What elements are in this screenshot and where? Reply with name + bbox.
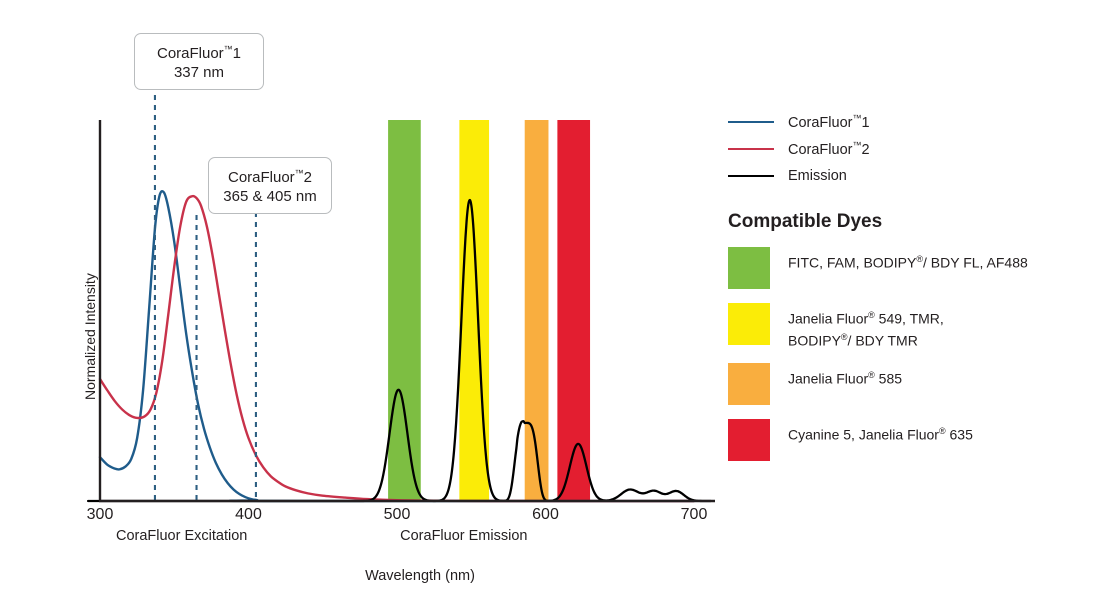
x-axis-title: Wavelength (nm) — [310, 568, 530, 584]
dye-label-2: Janelia Fluor® 585 — [788, 363, 902, 388]
x-tick-label-300: 300 — [70, 506, 130, 524]
legend-panel: CoraFluor™1CoraFluor™2EmissionCompatible… — [728, 108, 1098, 475]
y-axis-title: Normalized Intensity — [82, 273, 98, 400]
dye-band-green — [388, 120, 421, 501]
x-tick-label-700: 700 — [664, 506, 724, 524]
x-tick-label-600: 600 — [516, 506, 576, 524]
corafluor-2-callout: CoraFluor™2365 & 405 nm — [208, 157, 332, 214]
legend-line-label-0: CoraFluor™1 — [788, 113, 870, 131]
legend-line-row-2: Emission — [728, 162, 1098, 189]
dye-label-3: Cyanine 5, Janelia Fluor® 635 — [788, 419, 973, 444]
corafluor-1-callout-line1: CoraFluor™1 — [145, 40, 253, 63]
corafluor-1-callout: CoraFluor™1337 nm — [134, 33, 264, 90]
region-label-excitation: CoraFluor Excitation — [92, 528, 272, 544]
dye-row-1: Janelia Fluor® 549, TMR,BODIPY®/ BDY TMR — [728, 303, 1098, 349]
legend-line-swatch-0 — [728, 121, 774, 123]
legend-line-swatch-1 — [728, 148, 774, 150]
dye-band-red — [557, 120, 590, 501]
legend-line-swatch-2 — [728, 175, 774, 177]
dye-swatch-1 — [728, 303, 770, 345]
compatible-dyes-heading: Compatible Dyes — [728, 211, 1098, 233]
legend-line-label-1: CoraFluor™2 — [788, 140, 870, 158]
corafluor-1-callout-line2: 337 nm — [145, 63, 253, 82]
dye-label-1: Janelia Fluor® 549, TMR,BODIPY®/ BDY TMR — [788, 303, 944, 349]
dye-row-2: Janelia Fluor® 585 — [728, 363, 1098, 405]
region-label-emission: CoraFluor Emission — [374, 528, 554, 544]
corafluor-2-callout-line1: CoraFluor™2 — [219, 164, 321, 187]
x-tick-label-400: 400 — [219, 506, 279, 524]
dye-swatch-3 — [728, 419, 770, 461]
legend-line-row-0: CoraFluor™1 — [728, 108, 1098, 135]
spectra-figure: 300400500600700CoraFluor ExcitationCoraF… — [0, 0, 1110, 612]
corafluor-2-callout-line2: 365 & 405 nm — [219, 187, 321, 206]
dye-swatch-0 — [728, 247, 770, 289]
dye-band-orange — [525, 120, 549, 501]
legend-line-label-2: Emission — [788, 168, 847, 184]
x-tick-label-500: 500 — [367, 506, 427, 524]
dye-row-3: Cyanine 5, Janelia Fluor® 635 — [728, 419, 1098, 461]
dye-row-0: FITC, FAM, BODIPY®/ BDY FL, AF488 — [728, 247, 1098, 289]
legend-line-row-1: CoraFluor™2 — [728, 135, 1098, 162]
dye-label-0: FITC, FAM, BODIPY®/ BDY FL, AF488 — [788, 247, 1028, 272]
dye-swatch-2 — [728, 363, 770, 405]
